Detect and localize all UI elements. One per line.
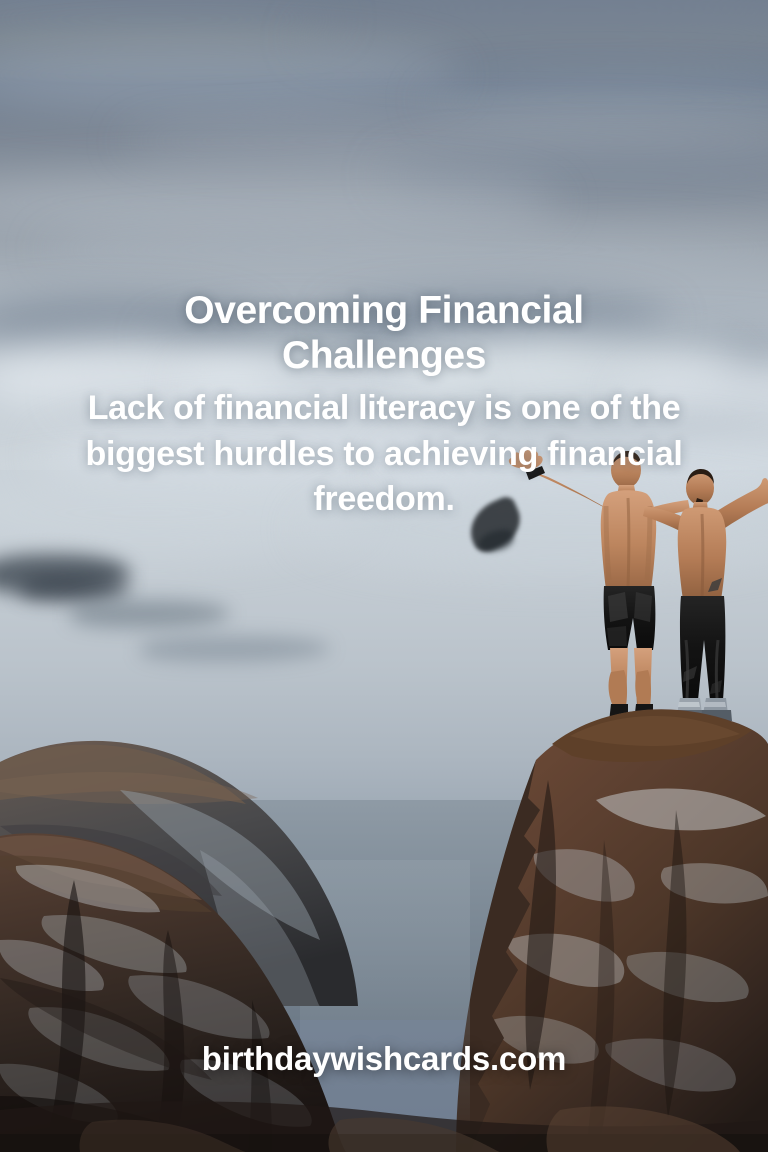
page-title: Overcoming Financial Challenges bbox=[64, 288, 704, 378]
quote-card: Overcoming Financial Challenges Lack of … bbox=[0, 0, 768, 1152]
site-url[interactable]: birthdaywishcards.com bbox=[0, 1040, 768, 1078]
quote-text-block: Overcoming Financial Challenges Lack of … bbox=[64, 288, 704, 522]
quote-body: Lack of financial literacy is one of the… bbox=[64, 386, 704, 522]
